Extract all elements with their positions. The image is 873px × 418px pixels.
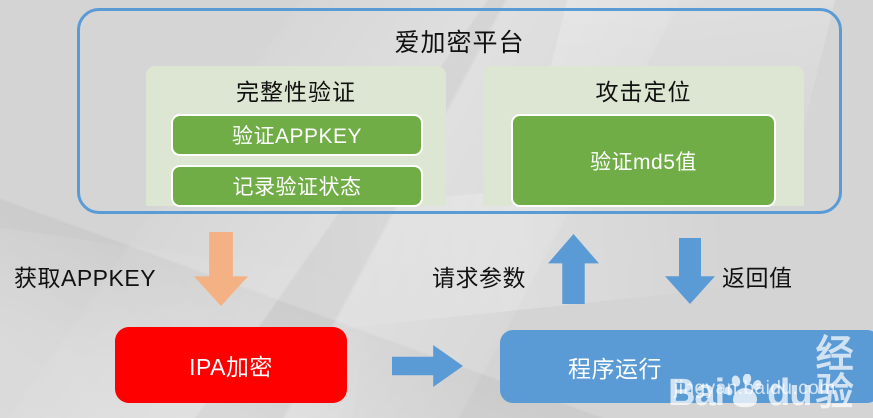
- flow-label-return-value: 返回值: [722, 259, 793, 293]
- flow-label-get-appkey: 获取APPKEY: [14, 259, 156, 293]
- right-arrow-icon: [392, 345, 463, 387]
- node-record-verify-status[interactable]: 记录验证状态: [171, 165, 423, 207]
- node-ipa-encryption[interactable]: IPA加密: [115, 327, 347, 403]
- panel-attack-location: 攻击定位 验证md5值: [483, 66, 804, 206]
- node-verify-md5[interactable]: 验证md5值: [511, 114, 776, 207]
- down-arrow-icon: [665, 238, 715, 304]
- panel-integrity: 完整性验证 验证APPKEY 记录验证状态: [146, 66, 446, 206]
- node-program-runtime[interactable]: 程序运行: [500, 330, 873, 403]
- panel-integrity-title: 完整性验证: [146, 73, 446, 107]
- diagram-canvas: 爱加密平台 完整性验证 验证APPKEY 记录验证状态 攻击定位 验证md5值 …: [0, 0, 873, 418]
- platform-container: 爱加密平台 完整性验证 验证APPKEY 记录验证状态 攻击定位 验证md5值: [77, 8, 842, 214]
- up-arrow-icon: [548, 234, 599, 304]
- panel-attack-location-title: 攻击定位: [483, 73, 804, 107]
- platform-title: 爱加密平台: [80, 23, 839, 59]
- flow-label-request-params: 请求参数: [432, 259, 526, 293]
- down-arrow-icon: [194, 232, 248, 306]
- node-verify-appkey[interactable]: 验证APPKEY: [171, 114, 423, 156]
- node-program-runtime-label: 程序运行: [568, 350, 662, 384]
